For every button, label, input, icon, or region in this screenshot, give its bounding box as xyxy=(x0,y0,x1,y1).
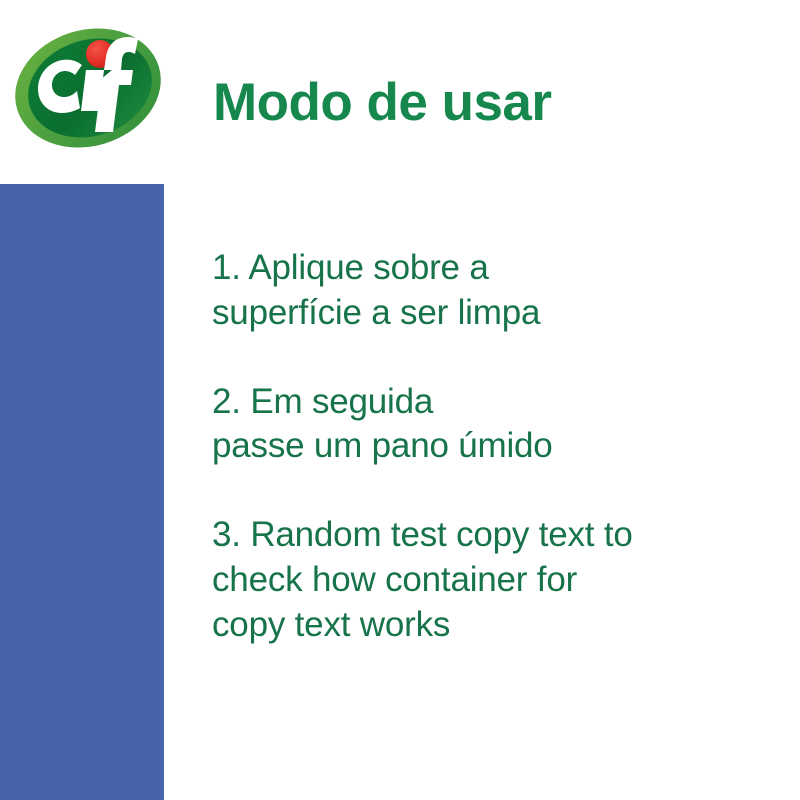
instruction-steps-list: 1. Aplique sobre a superfície a ser limp… xyxy=(212,246,772,648)
cif-logo xyxy=(8,18,178,158)
step-3-line-3: copy text works xyxy=(212,603,772,648)
page-title: Modo de usar xyxy=(213,74,552,132)
instruction-step-3: 3. Random test copy text to check how co… xyxy=(212,513,772,647)
instruction-step-2: 2. Em seguida passe um pano úmido xyxy=(212,380,772,470)
step-2-line-2: passe um pano úmido xyxy=(212,424,772,469)
step-3-line-1: 3. Random test copy text to xyxy=(212,513,772,558)
step-1-line-2: superfície a ser limpa xyxy=(212,291,772,336)
step-3-line-2: check how container for xyxy=(212,558,772,603)
instruction-step-1: 1. Aplique sobre a superfície a ser limp… xyxy=(212,246,772,336)
product-instructions-card: Modo de usar 1. Aplique sobre a superfíc… xyxy=(0,0,800,800)
step-2-line-1: 2. Em seguida xyxy=(212,380,772,425)
step-1-line-1: 1. Aplique sobre a xyxy=(212,246,772,291)
blue-accent-block xyxy=(0,184,164,800)
